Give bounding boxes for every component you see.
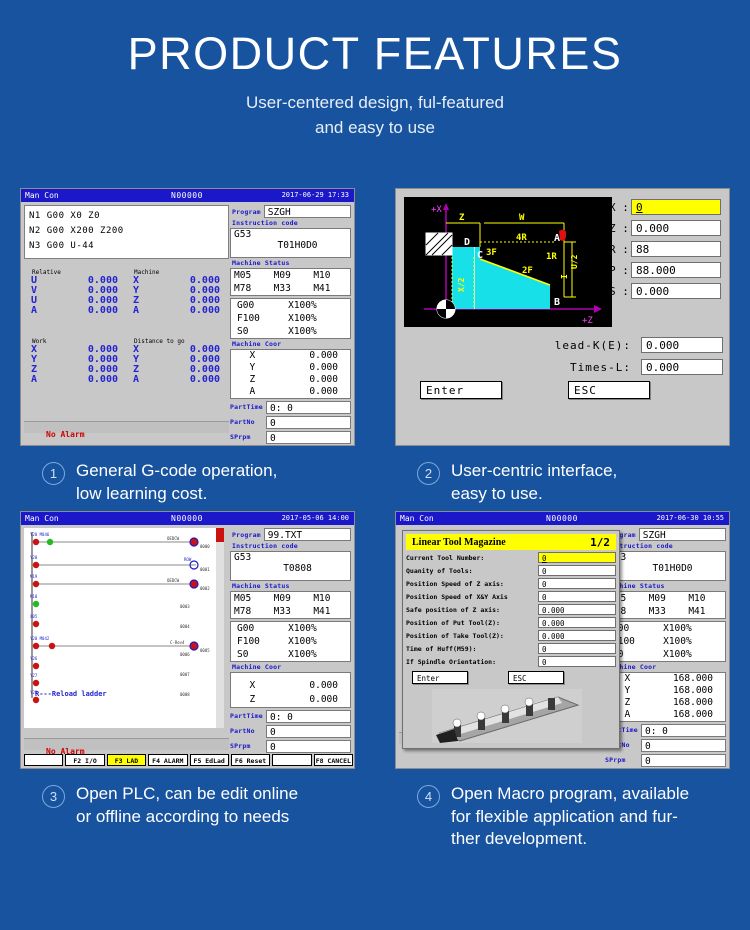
param-input-r[interactable]: 88: [631, 241, 721, 257]
program-row: Program SZGH: [605, 528, 726, 541]
machine-coords-group: Machine X0.000 Y0.000 Z0.000 A0.000: [126, 269, 228, 316]
svg-text:0003: 0003: [180, 604, 190, 609]
override-row: S0X100%: [231, 325, 350, 338]
spindle-orientation-input[interactable]: 0: [538, 656, 616, 667]
time-of-huff-input[interactable]: 0: [538, 643, 616, 654]
alarm-bar-3: No Alarm: [24, 738, 229, 750]
dialog-row: Position of Put Tool(Z):0.000: [406, 617, 616, 628]
override-row: G00X100%: [231, 299, 350, 312]
sprpm-row: SPrpm0: [230, 431, 351, 444]
lead-k-row: lead-K(E):0.000: [396, 337, 730, 353]
program-value[interactable]: SZGH: [264, 205, 351, 218]
svg-text:0006: 0006: [180, 652, 190, 657]
svg-text:Y26: Y26: [30, 656, 38, 661]
dialog-row: Current Tool Number:0: [406, 552, 616, 563]
instruction-label: Instruction code: [232, 219, 351, 227]
xy-axis-speed-input[interactable]: 0: [538, 591, 616, 602]
override-row: S0X100%: [606, 648, 725, 661]
svg-text:Y20 M042: Y20 M042: [30, 636, 50, 641]
parttime-row: PartTime0: 0: [230, 710, 351, 723]
machine-coor-box: X0.000 Y0.000 Z0.000 A0.000: [230, 349, 351, 399]
titlebar-block-number: N00000: [171, 512, 203, 525]
page-subtitle: User-centered design, ful-featured and e…: [0, 91, 750, 140]
param-input-x[interactable]: 0: [631, 199, 721, 215]
titlebar-block-number: N00000: [171, 189, 203, 202]
dialog-row: Position Speed of X&Y Axis0: [406, 591, 616, 602]
svg-text:3F: 3F: [486, 248, 497, 258]
current-tool-number-input[interactable]: 0: [538, 552, 616, 563]
dialog-esc-button[interactable]: ESC: [508, 671, 564, 684]
distance-coords-group: Distance to go X0.000 Y0.000 Z0.000 A0.0…: [126, 338, 228, 385]
svg-text:+Z: +Z: [582, 316, 593, 326]
relative-coords-group: Relative U0.000 V0.000 U0.000 A0.000: [24, 269, 126, 316]
status-row: M78M33M41: [231, 282, 350, 295]
override-row: G00X100%: [231, 622, 350, 635]
status-row: M05M09M10: [231, 592, 350, 605]
dialog-enter-button[interactable]: Enter: [412, 671, 468, 684]
features-row-1: Man Con N00000 2017-06-29 17:33 N1 G00 X…: [0, 182, 750, 505]
svg-text:0007: 0007: [180, 672, 190, 677]
svg-text:0004: 0004: [180, 624, 190, 629]
safe-position-z-input[interactable]: 0.000: [538, 604, 616, 615]
esc-button[interactable]: ESC: [568, 381, 650, 399]
caption-1: 1 General G-code operation, low learning…: [20, 446, 355, 505]
svg-text:Y27: Y27: [30, 673, 38, 678]
coord-row: A0.000: [126, 375, 228, 385]
svg-text:D: D: [464, 237, 470, 248]
titlebar-mode: Man Con: [25, 514, 59, 523]
partno-row: PartNo0: [230, 416, 351, 429]
svg-text:I: I: [560, 274, 569, 279]
machine-status-label: Machine Status: [607, 582, 726, 590]
param-row-s: S :0.000: [609, 283, 721, 299]
program-value[interactable]: SZGH: [639, 528, 726, 541]
machine-coor-label: Machine Coor: [607, 663, 726, 671]
fkey-blank-1[interactable]: [24, 754, 63, 766]
function-key-bar: F2 I/O F3 LAD F4 ALARM F5 EdLad F6 Reset…: [24, 754, 353, 766]
take-tool-z-input[interactable]: 0.000: [538, 630, 616, 641]
param-row-x: X :0: [609, 199, 721, 215]
fkey-f4-alarm[interactable]: F4 ALARM: [148, 754, 187, 766]
fkey-f5-edlad[interactable]: F5 EdLad: [190, 754, 229, 766]
instruction-box: G53 T01H0D0: [230, 228, 351, 258]
fkey-f2-io[interactable]: F2 I/O: [65, 754, 104, 766]
lead-k-input[interactable]: 0.000: [641, 337, 723, 353]
machine-status-box: M05M09M10 M78M33M41: [605, 591, 726, 619]
subtitle-line-2: and easy to use: [0, 116, 750, 141]
program-label: Program: [232, 531, 261, 539]
gcode-line[interactable]: N2 G00 X200 Z200: [29, 224, 224, 239]
mcoor-row: Y168.000: [606, 685, 725, 697]
override-box: G00X100% F100X100% S0X100%: [605, 621, 726, 662]
machine-status-label: Machine Status: [232, 582, 351, 590]
dialog-row: Position Speed of Z axis:0: [406, 578, 616, 589]
cycle-lower-section: lead-K(E):0.000 Times-L:0.000 Enter ESC: [396, 337, 730, 399]
mcoor-row: X0.000: [231, 679, 350, 693]
svg-text:Z: Z: [459, 213, 465, 223]
svg-text:1R: 1R: [546, 252, 557, 262]
caption-number: 4: [417, 785, 440, 808]
screen1-left-pane: N1 G00 X0 Z0 N2 G00 X200 Z200 N3 G00 U-4…: [24, 205, 229, 385]
caption-number: 2: [417, 462, 440, 485]
instruction-label: Instruction code: [607, 542, 726, 550]
feature-cell-2: +X +Z: [375, 182, 750, 505]
cycle-buttons: Enter ESC: [396, 381, 730, 399]
page-header: PRODUCT FEATURES User-centered design, f…: [0, 0, 750, 141]
mcoor-row: A0.000: [231, 386, 350, 398]
ladder-svg: Y20 M046 OEDCW 0000 Y20 ROW 0001: [24, 528, 224, 728]
subtitle-line-1: User-centered design, ful-featured: [0, 91, 750, 116]
instruction-line-2: T0808: [234, 563, 347, 574]
svg-text:0008: 0008: [180, 692, 190, 697]
parttime-row: PartTime0: 0: [605, 724, 726, 737]
override-row: G00X100%: [606, 622, 725, 635]
dialog-row: Position of Take Tool(Z):0.000: [406, 630, 616, 641]
fkey-f6-reset[interactable]: F6 Reset: [231, 754, 270, 766]
svg-text:U/2: U/2: [570, 254, 579, 269]
svg-text:A: A: [554, 233, 560, 244]
dialog-row: Time of Huff(M59):0: [406, 643, 616, 654]
param-row-z: Z :0.000: [609, 220, 721, 236]
svg-text:OEDCW: OEDCW: [167, 536, 180, 541]
times-l-row: Times-L:0.000: [396, 359, 730, 375]
param-input-p[interactable]: 88.000: [631, 262, 721, 278]
titlebar-mode: Man Con: [400, 514, 434, 523]
machine-coor-box: X168.000 Y168.000 Z168.000 A168.000: [605, 672, 726, 722]
gcode-line[interactable]: N3 G00 U-44: [29, 239, 224, 254]
program-label: Program: [232, 208, 261, 216]
tool-magazine-photo: [432, 689, 582, 743]
status-row: M78M33M41: [606, 605, 725, 618]
machine-status-box: M05M09M10 M78M33M41: [230, 591, 351, 619]
features-grid: Man Con N00000 2017-06-29 17:33 N1 G00 X…: [0, 182, 750, 851]
param-input-z[interactable]: 0.000: [631, 220, 721, 236]
titlebar-datetime: 2017-06-29 17:33: [282, 189, 349, 202]
caption-3: 3 Open PLC, can be edit online or offlin…: [20, 769, 355, 828]
instruction-line-2: T01H0D0: [234, 240, 347, 251]
features-row-2: Man Con N00000 2017-05-06 14:00 Y20 M046: [0, 505, 750, 851]
status-row: M05M09M10: [606, 592, 725, 605]
gcode-line[interactable]: N1 G00 X0 Z0: [29, 209, 224, 224]
svg-text:0005: 0005: [200, 648, 210, 653]
override-row: F100X100%: [606, 635, 725, 648]
screen1-right-pane: Program SZGH Instruction code G53 T01H0D…: [230, 205, 351, 444]
override-row: F100X100%: [231, 312, 350, 325]
param-row-r: R :88: [609, 241, 721, 257]
program-value[interactable]: 99.TXT: [264, 528, 351, 541]
machine-coor-label: Machine Coor: [232, 340, 351, 348]
screen3-right-pane: Program 99.TXT Instruction code G53 T080…: [230, 528, 351, 753]
machine-status-label: Machine Status: [232, 259, 351, 267]
param-input-s[interactable]: 0.000: [631, 283, 721, 299]
dialog-row: If Spindle Orientation:0: [406, 656, 616, 667]
caption-text: User-centric interface, easy to use.: [451, 460, 617, 505]
dialog-header: Linear Tool Magazine 1/2: [406, 534, 616, 550]
svg-text:C-Rev4: C-Rev4: [170, 640, 185, 645]
coord-row: A0.000: [24, 375, 126, 385]
coord-row: A0.000: [126, 306, 228, 316]
caption-text: General G-code operation, low learning c…: [76, 460, 277, 505]
titlebar-4: Man Con N00000 2017-06-30 10:55: [396, 512, 729, 525]
put-tool-z-input[interactable]: 0.000: [538, 617, 616, 628]
caption-text: Open Macro program, available for flexib…: [451, 783, 689, 851]
machine-status-box: M05M09M10 M78M33M41: [230, 268, 351, 296]
override-row: S0X100%: [231, 648, 350, 661]
svg-text:Y20 M046: Y20 M046: [30, 532, 50, 537]
z-axis-speed-input[interactable]: 0: [538, 578, 616, 589]
mcoor-row: Y0.000: [231, 362, 350, 374]
partno-row: PartNo0: [230, 725, 351, 738]
sprpm-row: SPrpm0: [230, 740, 351, 753]
instruction-line-1: G53: [609, 552, 722, 563]
work-coords-group: Work X0.000 Y0.000 Z0.000 A0.000: [24, 338, 126, 385]
dialog-buttons: Enter ESC: [412, 671, 616, 684]
coords-upper: Relative U0.000 V0.000 U0.000 A0.000 Mac…: [24, 269, 229, 316]
mcoor-row: Z168.000: [606, 697, 725, 709]
titlebar-1: Man Con N00000 2017-06-29 17:33: [21, 189, 354, 202]
override-box: G00X100% F100X100% S0X100%: [230, 298, 351, 339]
dialog-row: Quanity of Tools:0: [406, 565, 616, 576]
program-row: Program SZGH: [230, 205, 351, 218]
machine-coor-label: Machine Coor: [232, 663, 351, 671]
partno-row: PartNo0: [605, 739, 726, 752]
feature-cell-4: Man Con N00000 2017-06-30 10:55 Program …: [375, 505, 750, 851]
coords-lower: Work X0.000 Y0.000 Z0.000 A0.000 Distanc…: [24, 338, 229, 385]
program-row: Program 99.TXT: [230, 528, 351, 541]
fkey-blank-2[interactable]: [272, 754, 311, 766]
titlebar-block-number: N00000: [546, 512, 578, 525]
instruction-label: Instruction code: [232, 542, 351, 550]
dialog-page-indicator: 1/2: [590, 536, 610, 549]
instruction-line-1: G53: [234, 229, 347, 240]
svg-text:0001: 0001: [200, 567, 210, 572]
svg-text:M10: M10: [30, 594, 38, 599]
enter-button[interactable]: Enter: [420, 381, 502, 399]
times-l-input[interactable]: 0.000: [641, 359, 723, 375]
parttime-row: PartTime0: 0: [230, 401, 351, 414]
svg-text:4R: 4R: [516, 233, 527, 243]
magazine-photo-svg: [432, 689, 582, 743]
svg-text:Y20: Y20: [30, 555, 38, 560]
svg-text:+X: +X: [431, 205, 442, 215]
mcoor-row: X168.000: [606, 673, 725, 685]
instruction-line-1: G53: [234, 552, 347, 563]
titlebar-3: Man Con N00000 2017-05-06 14:00: [21, 512, 354, 525]
svg-text:X/2: X/2: [457, 277, 466, 292]
svg-text:B: B: [554, 297, 560, 308]
fkey-f8-cancel[interactable]: F8 CANCEL: [314, 754, 353, 766]
plc-ladder-diagram[interactable]: Y20 M046 OEDCW 0000 Y20 ROW 0001: [24, 528, 224, 728]
svg-text:M19: M19: [30, 574, 38, 579]
override-row: F100X100%: [231, 635, 350, 648]
instruction-box: G53 T01H0D0: [605, 551, 726, 581]
svg-text:0000: 0000: [200, 544, 210, 549]
svg-text:C: C: [477, 250, 483, 261]
mcoor-row: X0.000: [231, 350, 350, 362]
gcode-program-box[interactable]: N1 G00 X0 Z0 N2 G00 X200 Z200 N3 G00 U-4…: [24, 205, 229, 259]
feature-cell-3: Man Con N00000 2017-05-06 14:00 Y20 M046: [0, 505, 375, 851]
cnc-screenshot-2[interactable]: +X +Z: [395, 188, 730, 446]
dialog-row: Safe position of Z axis:0.000: [406, 604, 616, 615]
caption-4: 4 Open Macro program, available for flex…: [395, 769, 730, 851]
svg-text:2F: 2F: [522, 266, 533, 276]
sprpm-row: SPrpm0: [605, 754, 726, 767]
machine-coor-box: X0.000 Z0.000: [230, 672, 351, 708]
quantity-of-tools-input[interactable]: 0: [538, 565, 616, 576]
svg-text:ROW: ROW: [184, 557, 192, 562]
svg-text:0002: 0002: [200, 586, 210, 591]
reload-ladder-note: R---Reload ladder: [35, 690, 107, 698]
caption-number: 3: [42, 785, 65, 808]
titlebar-datetime: 2017-06-30 10:55: [657, 512, 724, 525]
param-row-p: P :88.000: [609, 262, 721, 278]
fkey-f3-lad[interactable]: F3 LAD: [107, 754, 146, 766]
mcoor-row: Z0.000: [231, 693, 350, 707]
titlebar-mode: Man Con: [25, 191, 59, 200]
cnc-screenshot-1[interactable]: Man Con N00000 2017-06-29 17:33 N1 G00 X…: [20, 188, 355, 446]
alarm-text: No Alarm: [46, 430, 85, 439]
lathe-diagram-svg: +X +Z: [404, 197, 612, 327]
svg-text:OEDCW: OEDCW: [167, 578, 180, 583]
titlebar-datetime: 2017-05-06 14:00: [282, 512, 349, 525]
instruction-box: G53 T0808: [230, 551, 351, 581]
override-box: G00X100% F100X100% S0X100%: [230, 621, 351, 662]
status-row: M05M09M10: [231, 269, 350, 282]
caption-number: 1: [42, 462, 65, 485]
cnc-screenshot-3[interactable]: Man Con N00000 2017-05-06 14:00 Y20 M046: [20, 511, 355, 769]
cnc-screenshot-4[interactable]: Man Con N00000 2017-06-30 10:55 Program …: [395, 511, 730, 769]
caption-text: Open PLC, can be edit online or offline …: [76, 783, 298, 828]
tool-magazine-dialog[interactable]: Linear Tool Magazine 1/2 Current Tool Nu…: [402, 530, 620, 749]
svg-text:W: W: [519, 213, 525, 223]
page-title: PRODUCT FEATURES: [0, 30, 750, 77]
caption-2: 2 User-centric interface, easy to use.: [395, 446, 730, 505]
dialog-title: Linear Tool Magazine: [412, 537, 506, 548]
screen4-right-pane: Program SZGH Instruction code G53 T01H0D…: [605, 528, 726, 767]
instruction-line-2: T01H0D0: [609, 563, 722, 574]
mcoor-row: Z0.000: [231, 374, 350, 386]
cycle-parameter-fields: X :0 Z :0.000 R :88 P :88.000 S :0.000: [609, 199, 721, 304]
lathe-cycle-diagram: +X +Z: [404, 197, 612, 327]
feature-cell-1: Man Con N00000 2017-06-29 17:33 N1 G00 X…: [0, 182, 375, 505]
status-row: M78M33M41: [231, 605, 350, 618]
mcoor-row: A168.000: [606, 709, 725, 721]
coord-row: A0.000: [24, 306, 126, 316]
svg-text:X05: X05: [30, 614, 38, 619]
alarm-bar-1: No Alarm: [24, 421, 229, 433]
